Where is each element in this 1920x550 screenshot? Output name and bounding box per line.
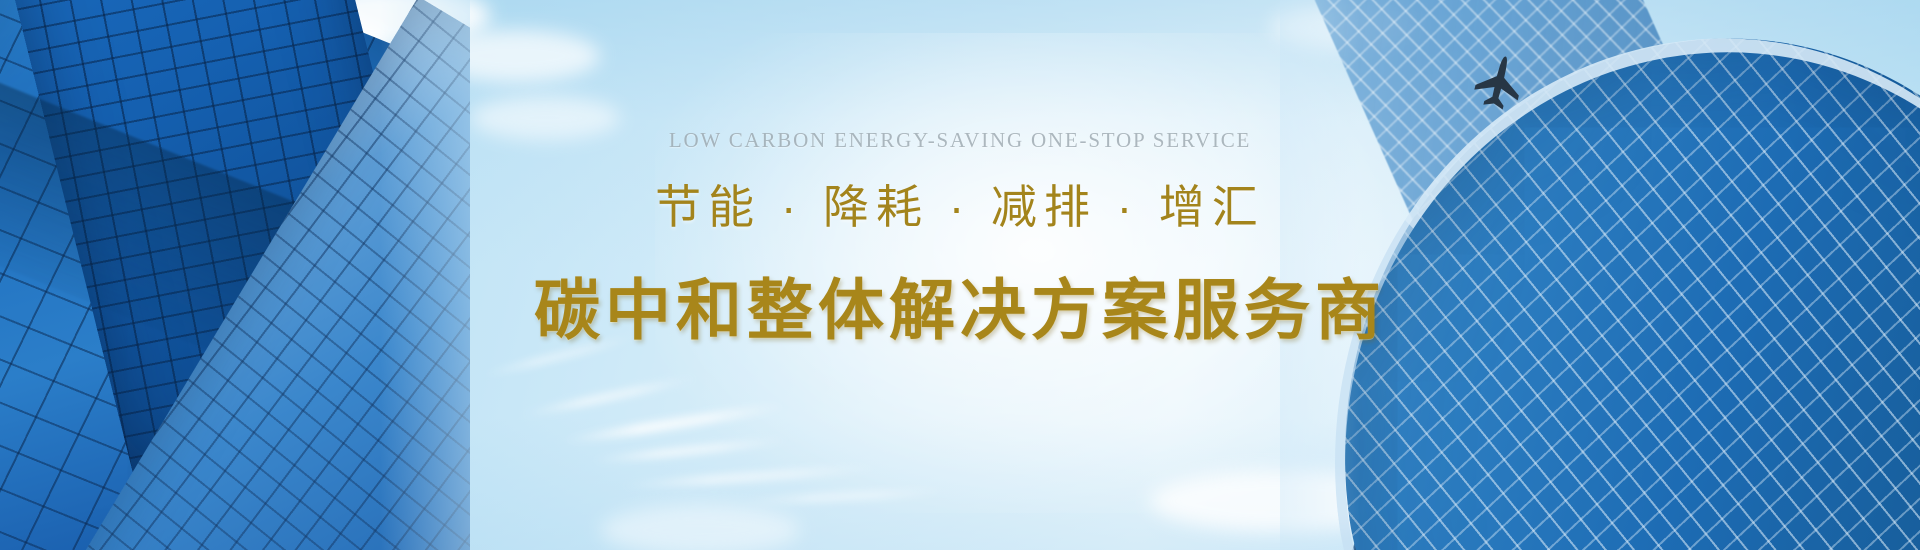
hero-banner: LOW CARBON ENERGY-SAVING ONE-STOP SERVIC…	[0, 0, 1920, 550]
banner-eyebrow: LOW CARBON ENERGY-SAVING ONE-STOP SERVIC…	[669, 128, 1251, 153]
banner-copy: LOW CARBON ENERGY-SAVING ONE-STOP SERVIC…	[0, 0, 1920, 550]
banner-headline: 碳中和整体解决方案服务商	[534, 257, 1386, 353]
banner-subhead: 节能 · 降耗 · 减排 · 增汇	[655, 171, 1265, 237]
